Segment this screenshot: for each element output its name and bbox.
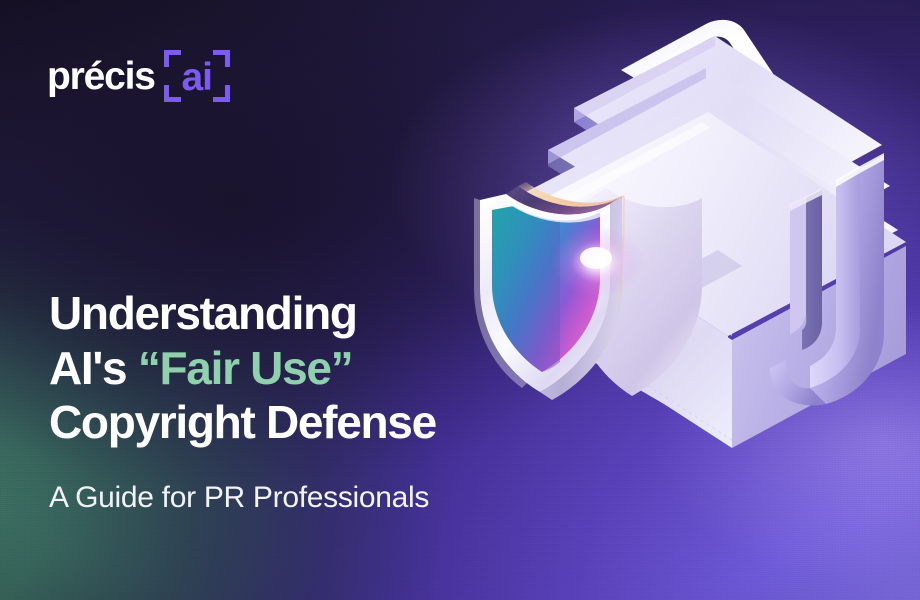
bracket-bottom-left-icon bbox=[164, 85, 181, 102]
page-title: Understanding AI's “Fair Use” Copyright … bbox=[49, 286, 569, 450]
logo-ai-badge: ai bbox=[164, 50, 230, 102]
bracket-top-right-icon bbox=[213, 50, 230, 67]
title-block: Understanding AI's “Fair Use” Copyright … bbox=[49, 286, 569, 516]
page-subtitle: A Guide for PR Professionals bbox=[49, 480, 569, 516]
headline-line-3: Copyright Defense bbox=[49, 396, 436, 448]
logo-wordmark: précis bbox=[47, 57, 155, 96]
bracket-bottom-right-icon bbox=[213, 85, 230, 102]
cover-canvas: précis ai Understanding AI's “Fair Use” … bbox=[0, 0, 920, 600]
headline-line-2-prefix: AI's bbox=[49, 342, 138, 394]
headline-line-1: Understanding bbox=[49, 287, 357, 339]
headline-accent-fair-use: “Fair Use” bbox=[138, 342, 353, 394]
logo-ai-text: ai bbox=[181, 58, 212, 97]
brand-logo[interactable]: précis ai bbox=[47, 50, 230, 102]
bracket-top-left-icon bbox=[164, 50, 181, 67]
